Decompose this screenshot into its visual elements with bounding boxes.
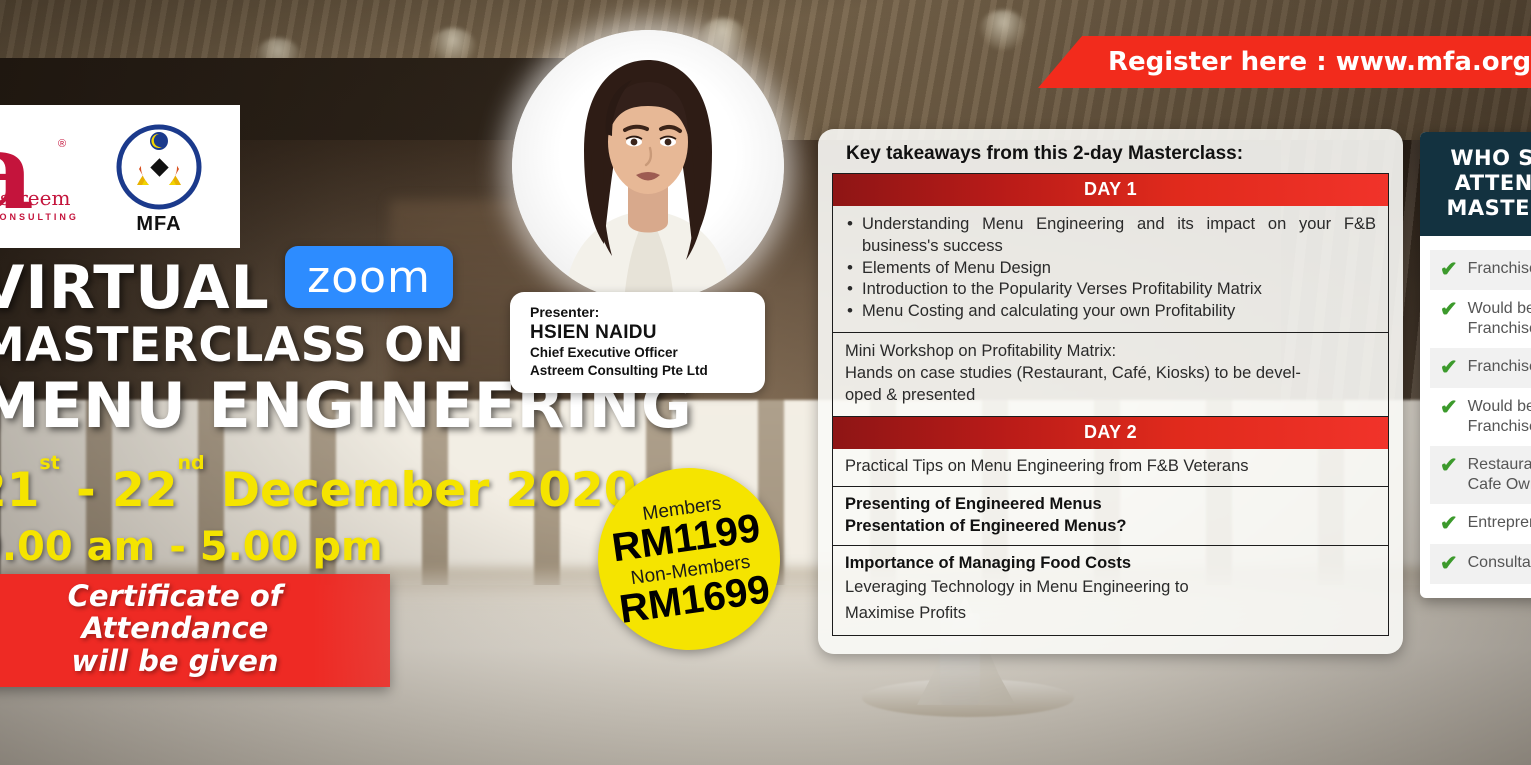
who-item-line-2: Franchisors: [1468, 320, 1531, 337]
check-icon: ✔: [1440, 357, 1458, 379]
who-item-text: Franchisors: [1468, 259, 1531, 279]
check-icon: ✔: [1440, 259, 1458, 281]
date-separator: -: [60, 463, 112, 518]
astreem-wordmark: astreem: [0, 186, 70, 210]
day2-row-2: Presenting of Engineered Menus Presentat…: [833, 487, 1388, 547]
list-item: ✔ Franchisors: [1430, 250, 1531, 290]
day2-row-3: Importance of Managing Food Costs Levera…: [833, 546, 1388, 635]
who-item-text: Entrepreneurs: [1468, 513, 1531, 533]
event-date: 21st - 22nd December 2020: [0, 463, 674, 518]
astreem-logo: a ® astreem CONSULTING: [0, 122, 80, 232]
who-heading-line-3: MASTERCLASS: [1430, 196, 1531, 221]
presenter-label: Presenter:: [530, 304, 749, 320]
key-takeaways-panel: Key takeaways from this 2-day Masterclas…: [818, 129, 1403, 654]
key-takeaways-title: Key takeaways from this 2-day Masterclas…: [846, 143, 1389, 165]
workshop-line-3: oped & presented: [845, 385, 1376, 407]
agenda-table: DAY 1 Understanding Menu Engineering and…: [832, 173, 1389, 636]
list-item: ✔ Restaurant & Cafe Owners: [1430, 446, 1531, 504]
astreem-registered-icon: ®: [58, 138, 66, 150]
date-day2-suffix: nd: [177, 452, 204, 474]
day2-row2-line-1: Presenting of Engineered Menus: [845, 494, 1376, 516]
who-item-line-1: Would be: [1468, 398, 1531, 415]
list-item: ✔ Would be Franchisors: [1430, 290, 1531, 348]
who-item-text: Franchisees: [1468, 357, 1531, 377]
check-icon: ✔: [1440, 397, 1458, 419]
check-icon: ✔: [1440, 513, 1458, 535]
list-item: ✔ Franchisees: [1430, 348, 1531, 388]
mini-workshop-row: Mini Workshop on Profitability Matrix: H…: [833, 333, 1388, 417]
list-item: Elements of Menu Design: [845, 258, 1376, 280]
day2-row3-line-3: Maximise Profits: [845, 601, 1376, 627]
presenter-organisation: Astreem Consulting Pte Ltd: [530, 362, 749, 380]
date-day1-suffix: st: [39, 452, 59, 474]
date-month-year: December 2020: [205, 463, 637, 518]
certificate-line-1: Certificate of Attendance: [0, 580, 380, 645]
event-time: 9.00 am - 5.00 pm: [0, 524, 674, 570]
check-icon: ✔: [1440, 553, 1458, 575]
presenter-role: Chief Executive Officer: [530, 344, 749, 362]
who-should-attend-list: ✔ Franchisors ✔ Would be Franchisors ✔ F…: [1420, 236, 1531, 598]
certificate-line-2: will be given: [0, 645, 380, 677]
who-item-line-2: Franchisees: [1468, 418, 1531, 435]
logo-bar: a ® astreem CONSULTING M: [0, 105, 240, 248]
register-ribbon[interactable]: Register here : www.mfa.org.my/mas: [1038, 36, 1531, 88]
who-should-attend-heading: WHO SHOULD ATTEND THIS MASTERCLASS: [1420, 132, 1531, 236]
day1-bullets-row: Understanding Menu Engineering and its i…: [833, 206, 1388, 333]
who-should-attend-panel: WHO SHOULD ATTEND THIS MASTERCLASS ✔ Fra…: [1420, 132, 1531, 598]
astreem-tagline: CONSULTING: [0, 212, 79, 222]
event-schedule: 21st - 22nd December 2020 9.00 am - 5.00…: [0, 463, 674, 570]
mfa-logo: MFA: [96, 117, 222, 236]
workshop-line-2: Hands on case studies (Restaurant, Café,…: [845, 363, 1376, 385]
list-item: ✔ Consultants: [1430, 544, 1531, 584]
day1-header: DAY 1: [833, 174, 1388, 206]
list-item: ✔ Entrepreneurs: [1430, 504, 1531, 544]
day2-row1-text: Practical Tips on Menu Engineering from …: [845, 456, 1376, 478]
workshop-line-1: Mini Workshop on Profitability Matrix:: [845, 341, 1376, 363]
who-item-line-2: Cafe Owners: [1468, 476, 1531, 493]
who-heading-line-2: ATTEND THIS: [1430, 171, 1531, 196]
who-item-text: Would be Franchisees: [1468, 397, 1531, 437]
list-item: ✔ Would be Franchisees: [1430, 388, 1531, 446]
check-icon: ✔: [1440, 455, 1458, 477]
check-icon: ✔: [1440, 299, 1458, 321]
who-item-line-1: Restaurant &: [1468, 456, 1531, 473]
presenter-photo: [512, 30, 784, 302]
presenter-name: HSIEN NAIDU: [530, 322, 749, 344]
day2-header: DAY 2: [833, 417, 1388, 449]
presenter-portrait-icon: [512, 30, 784, 302]
day2-row2-line-2: Presentation of Engineered Menus?: [845, 516, 1376, 538]
list-item: Understanding Menu Engineering and its i…: [845, 214, 1376, 258]
certificate-banner: Certificate of Attendance will be given: [0, 574, 390, 687]
who-item-text: Consultants: [1468, 553, 1531, 573]
date-day1: 21: [0, 463, 39, 518]
day2-row3-line-2: Leveraging Technology in Menu Engineerin…: [845, 575, 1376, 601]
presenter-card: Presenter: HSIEN NAIDU Chief Executive O…: [510, 292, 765, 393]
who-item-line-1: Would be: [1468, 300, 1531, 317]
who-item-text: Would be Franchisors: [1468, 299, 1531, 339]
day2-row-1: Practical Tips on Menu Engineering from …: [833, 449, 1388, 487]
list-item: Menu Costing and calculating your own Pr…: [845, 301, 1376, 323]
day1-bullet-list: Understanding Menu Engineering and its i…: [845, 214, 1376, 323]
list-item: Introduction to the Popularity Verses Pr…: [845, 279, 1376, 301]
who-heading-line-1: WHO SHOULD: [1430, 146, 1531, 171]
day2-row3-line-1: Importance of Managing Food Costs: [845, 553, 1376, 575]
register-link-text[interactable]: Register here : www.mfa.org.my/mas: [1108, 47, 1531, 77]
who-item-text: Restaurant & Cafe Owners: [1468, 455, 1531, 495]
date-day2: 22: [112, 463, 177, 518]
mfa-emblem-icon: [109, 117, 209, 217]
